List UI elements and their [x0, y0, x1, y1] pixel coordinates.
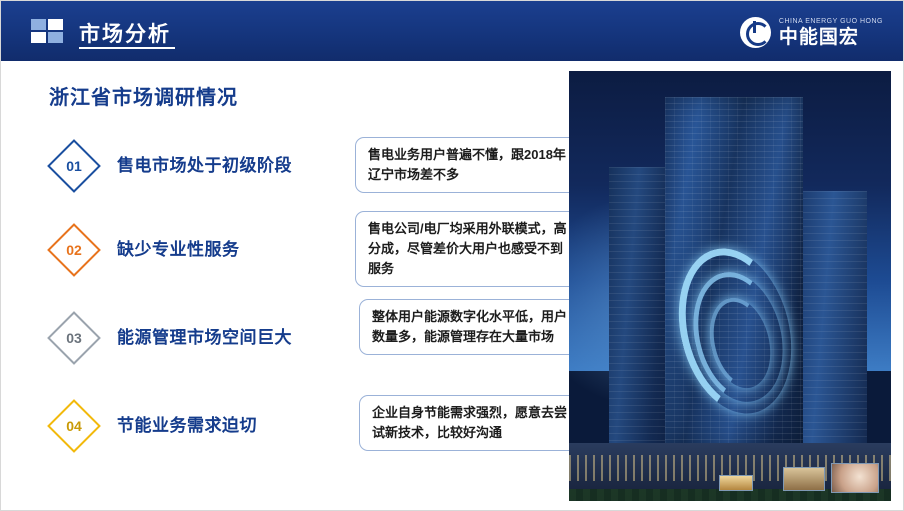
- title-underline: [79, 47, 175, 49]
- diamond-badge-01: 01: [43, 135, 105, 197]
- billboard: [831, 463, 879, 493]
- item-heading: 节能业务需求迫切: [117, 411, 257, 436]
- item-heading: 能源管理市场空间巨大: [117, 323, 292, 348]
- billboard: [719, 475, 753, 491]
- building-render-photo: [569, 71, 891, 501]
- item-note-bubble: 售电业务用户普遍不懂，跟2018年辽宁市场差不多: [355, 137, 585, 193]
- slide-canvas: 市场分析 CHINA ENERGY GUO HONG 中能国宏 浙江省市场调研情…: [0, 0, 904, 511]
- section-title: 浙江省市场调研情况: [49, 81, 238, 110]
- item-heading: 售电市场处于初级阶段: [117, 151, 292, 176]
- item-note-bubble: 售电公司/电厂均采用外联模式，高分成，尽管差价大用户也感受不到服务: [355, 211, 581, 287]
- list-item: 03 能源管理市场空间巨大 整体用户能源数字化水平低，用户数量多，能源管理存在大…: [43, 301, 553, 375]
- right-tower: [797, 191, 867, 449]
- diamond-badge-02: 02: [43, 219, 105, 281]
- slide-header: 市场分析 CHINA ENERGY GUO HONG 中能国宏: [1, 1, 904, 61]
- item-note-bubble: 企业自身节能需求强烈，愿意去尝试新技术，比较好沟通: [359, 395, 585, 451]
- brand-logo: CHINA ENERGY GUO HONG 中能国宏: [740, 13, 883, 51]
- left-tower: [609, 167, 671, 451]
- item-number: 02: [43, 219, 105, 281]
- list-item: 04 节能业务需求迫切 企业自身节能需求强烈，愿意去尝试新技术，比较好沟通: [43, 389, 553, 463]
- brand-chinese-name: 中能国宏: [779, 27, 883, 48]
- diamond-badge-03: 03: [43, 307, 105, 369]
- page-title: 市场分析: [79, 18, 171, 48]
- energy-circle-logo-icon: [740, 17, 771, 48]
- brand-english-name: CHINA ENERGY GUO HONG: [779, 17, 883, 27]
- four-squares-logo-icon: [31, 19, 65, 45]
- billboard: [783, 467, 825, 491]
- item-number: 04: [43, 395, 105, 457]
- item-number: 03: [43, 307, 105, 369]
- list-item: 02 缺少专业性服务 售电公司/电厂均采用外联模式，高分成，尽管差价大用户也感受…: [43, 213, 553, 287]
- item-heading: 缺少专业性服务: [117, 235, 240, 260]
- list-item: 01 售电市场处于初级阶段 售电业务用户普遍不懂，跟2018年辽宁市场差不多: [43, 129, 553, 203]
- item-number: 01: [43, 135, 105, 197]
- item-note-bubble: 整体用户能源数字化水平低，用户数量多，能源管理存在大量市场: [359, 299, 585, 355]
- diamond-badge-04: 04: [43, 395, 105, 457]
